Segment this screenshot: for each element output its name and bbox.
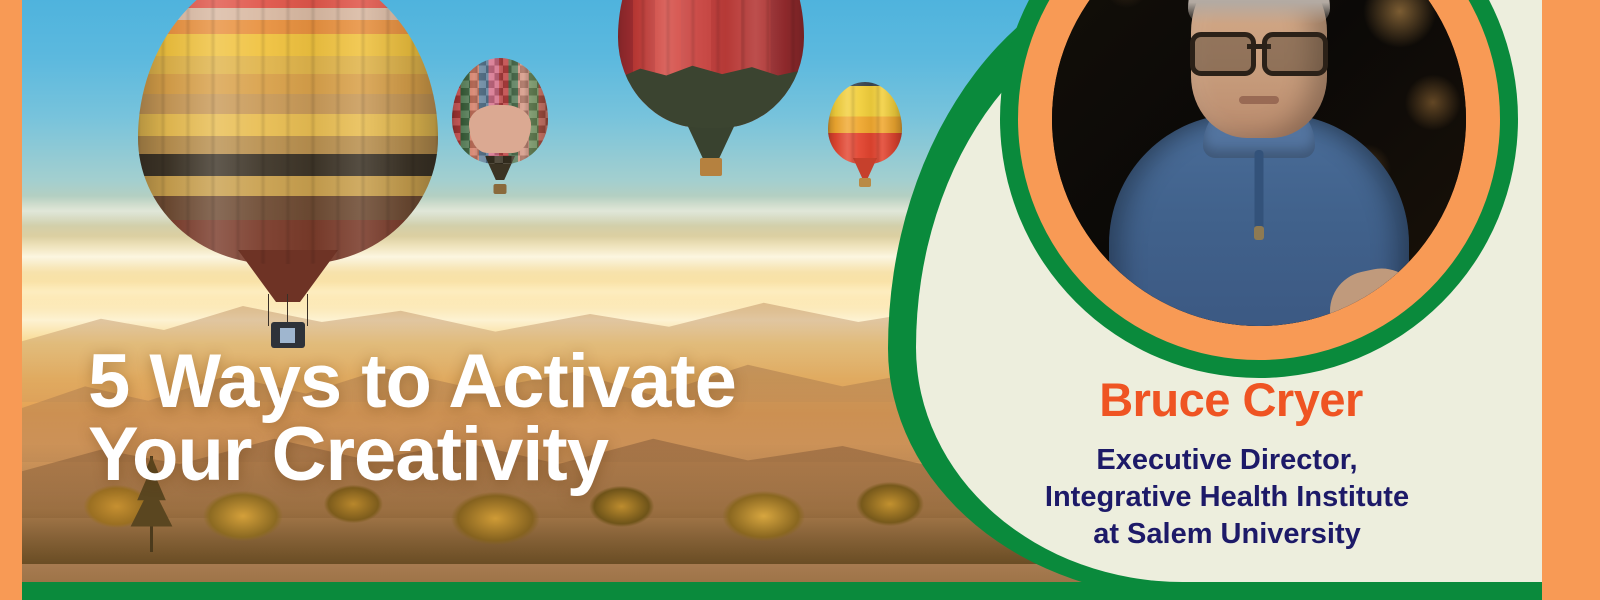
hot-air-balloon-large: [138, 0, 438, 344]
portrait-zip-placket: [1255, 150, 1264, 234]
balloon-basket: [494, 184, 507, 194]
portrait-hair: [1188, 0, 1330, 24]
speaker-title: Executive Director, Integrative Health I…: [920, 442, 1534, 553]
balloon-envelope: [138, 0, 438, 264]
portrait-mouth: [1239, 96, 1279, 104]
speaker-name: Bruce Cryer: [958, 372, 1504, 427]
webinar-promo-banner: 5 Ways to Activate Your Creativity Bruce…: [0, 0, 1600, 600]
eyeglasses-icon: [1190, 32, 1328, 66]
balloon-lower-band: [618, 59, 804, 128]
speaker-panel: Bruce Cryer Executive Director, Integrat…: [900, 0, 1600, 600]
bottom-green-bar: [22, 582, 1542, 600]
balloon-envelope: [618, 0, 804, 128]
headline-title: 5 Ways to Activate Your Creativity: [88, 346, 736, 492]
eyeglass-lens-left: [1190, 32, 1256, 76]
portrait-zipper-pull: [1254, 226, 1264, 240]
balloon-basket: [859, 178, 871, 187]
hot-air-balloon-checkered: [452, 58, 548, 196]
right-orange-border: [1542, 0, 1600, 600]
left-orange-border: [0, 0, 22, 600]
hot-air-balloon-red: [618, 0, 804, 184]
balloon-belly-panel: [469, 105, 530, 154]
speaker-portrait-photo: [1052, 0, 1466, 326]
balloon-envelope: [452, 58, 548, 164]
balloon-basket: [700, 158, 722, 176]
eyeglass-lens-right: [1262, 32, 1328, 76]
